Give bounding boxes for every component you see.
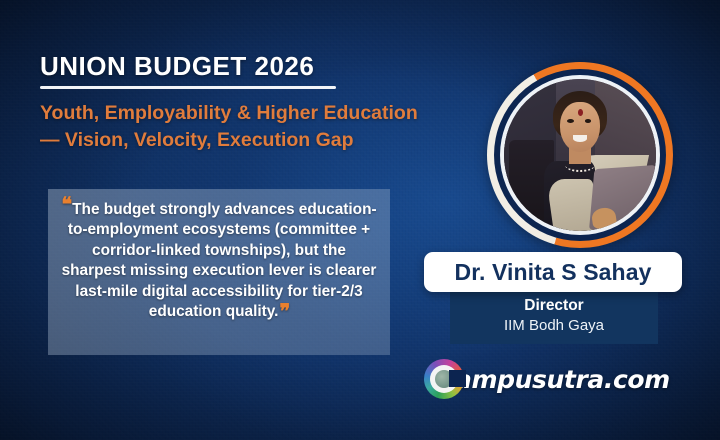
quote-card: UNION BUDGET 2026 Youth, Employability &…	[0, 0, 720, 440]
quote-open-mark: ❝	[61, 194, 71, 216]
speaker-name-badge: Dr. Vinita S Sahay	[424, 252, 682, 292]
brand-logo[interactable]: ampusutra.com	[424, 355, 624, 403]
subtitle-line-2: — Vision, Velocity, Execution Gap	[40, 127, 490, 155]
header: UNION BUDGET 2026 Youth, Employability &…	[40, 52, 490, 155]
quote-text-block: ❝The budget strongly advances education-…	[58, 200, 380, 323]
speaker-organization: IIM Bodh Gaya	[504, 316, 604, 336]
speaker-portrait	[487, 62, 673, 248]
subtitle-line-1: Youth, Employability & Higher Education	[40, 102, 418, 124]
speaker-name: Dr. Vinita S Sahay	[455, 259, 652, 286]
quote-panel: ❝The budget strongly advances education-…	[48, 189, 390, 355]
avatar	[504, 79, 656, 231]
logo-ring-notch	[449, 370, 466, 387]
photo-smile	[573, 135, 587, 142]
subtitle: Youth, Employability & Higher Education …	[40, 100, 490, 155]
quote-close-mark: ❞	[279, 301, 289, 323]
speaker-role: Director	[524, 296, 583, 315]
page-title: UNION BUDGET 2026	[40, 52, 490, 81]
brand-name: ampusutra.com	[455, 365, 670, 394]
quote-body: The budget strongly advances education-t…	[62, 201, 377, 320]
campusutra-ring-icon	[424, 359, 464, 399]
title-underline	[40, 86, 336, 89]
speaker-role-panel: Director IIM Bodh Gaya	[450, 288, 658, 344]
